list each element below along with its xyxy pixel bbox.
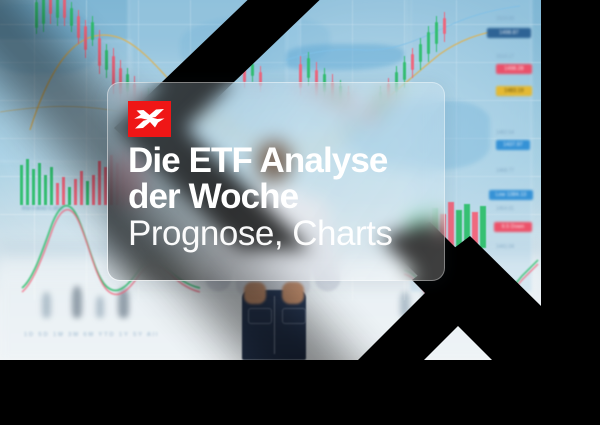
- price-badge: 1483.19: [496, 86, 532, 96]
- price-badge: 9.5 Down: [494, 222, 532, 232]
- price-badge: 1437.97: [496, 140, 530, 150]
- chart-axis-tick: 0.4050: [498, 312, 513, 318]
- chart-timeframe-toolbar: 1D 5D 1M 3M 6M YTD 1Y 5Y All: [24, 332, 159, 338]
- headline-line-1: Die ETF Analyse: [128, 143, 428, 179]
- person-jeans-pocket: [248, 308, 272, 324]
- chart-axis-tick: 1468.77: [496, 168, 514, 174]
- price-badge: 5.2 Up: [494, 300, 528, 310]
- screenshot-root: 1524.00 1510.17 1496.41 1482.54 1468.77 …: [0, 0, 600, 425]
- price-badge: 1498.28: [496, 64, 532, 74]
- person-jeans-seam: [274, 296, 275, 354]
- person-jeans-pocket: [282, 308, 306, 324]
- card-headline-block: Die ETF Analyse der Woche Prognose, Char…: [128, 143, 428, 253]
- headline-line-2: der Woche: [128, 179, 428, 215]
- promo-card: Die ETF Analyse der Woche Prognose, Char…: [107, 82, 445, 281]
- chart-axis-tick: 0.4060: [498, 284, 513, 290]
- chart-axis-tick: 1454.91: [496, 206, 514, 212]
- person-left-hand: [244, 282, 266, 304]
- subheadline: Prognose, Charts: [128, 215, 428, 253]
- xtb-logo-icon: [128, 101, 171, 137]
- chart-legend-values: RSI 0.4042 0.3811: [22, 206, 63, 212]
- chart-axis-tick: 1524.00: [496, 16, 514, 22]
- chart-axis-tick: 1510.17: [496, 54, 514, 60]
- price-badge: Low 1384.13: [489, 190, 533, 200]
- price-badge: 1498.87: [487, 28, 531, 38]
- chart-axis-tick: 1441.04: [496, 244, 514, 250]
- card-content: Die ETF Analyse der Woche Prognose, Char…: [108, 83, 444, 280]
- person-right-hand: [282, 282, 304, 304]
- chart-axis-tick: 1482.54: [496, 130, 514, 136]
- promo-banner-image: 1524.00 1510.17 1496.41 1482.54 1468.77 …: [0, 0, 541, 360]
